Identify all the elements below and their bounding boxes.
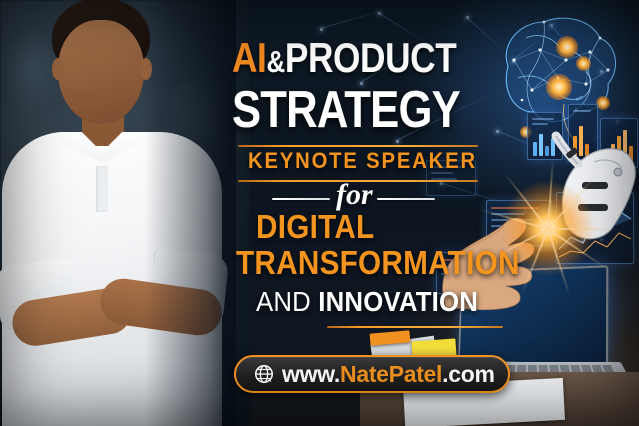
keynote-speaker-label: KEYNOTE SPEAKER	[248, 150, 477, 172]
website-url-button[interactable]: www.NatePatel.com	[234, 355, 510, 393]
headline-ai: AI	[232, 34, 266, 81]
topic-and: AND	[256, 286, 311, 317]
promo-banner: AI&PRODUCT STRATEGY KEYNOTE SPEAKER for …	[0, 0, 639, 426]
globe-icon	[253, 363, 275, 385]
topic-transformation: TRANSFORMATION	[236, 246, 520, 279]
divider-for-left	[272, 198, 330, 200]
headline-strategy: STRATEGY	[232, 84, 460, 136]
topic-and-innovation: AND INNOVATION	[256, 288, 478, 316]
headline-ampersand: &	[266, 44, 284, 79]
url-brand: NatePatel	[340, 361, 442, 387]
headline-product: PRODUCT	[285, 34, 457, 81]
connector-for: for	[336, 180, 373, 210]
url-prefix: www.	[282, 361, 340, 387]
topic-innovation: INNOVATION	[318, 286, 478, 317]
headline-line-1: AI&PRODUCT	[232, 37, 456, 83]
topic-digital: DIGITAL	[256, 210, 374, 243]
url-suffix: .com	[442, 361, 494, 387]
divider-for-right	[377, 198, 435, 200]
divider-below-innovation	[327, 326, 503, 328]
divider-above-keynote	[238, 145, 478, 147]
website-url-text: www.NatePatel.com	[282, 363, 495, 386]
